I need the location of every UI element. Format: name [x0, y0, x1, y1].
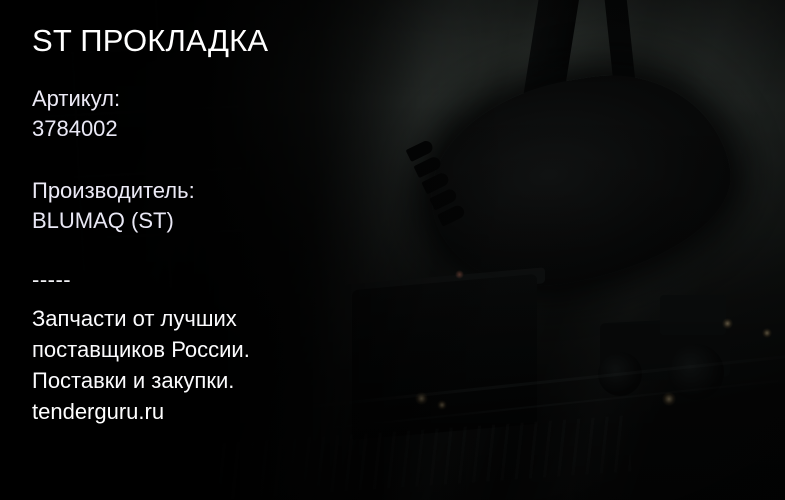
- product-title: ST ПРОКЛАДКА: [32, 23, 268, 59]
- text-divider: -----: [32, 268, 71, 292]
- tagline-block: Запчасти от лучших поставщиков России. П…: [32, 303, 250, 427]
- manufacturer-label: Производитель:: [32, 178, 195, 203]
- tagline-line-2: поставщиков России.: [32, 334, 250, 365]
- tagline-line-1: Запчасти от лучших: [32, 303, 250, 334]
- machine-lamp-glow: [722, 318, 733, 329]
- article-field: Артикул: 3784002: [32, 84, 120, 144]
- loader-cab: [660, 295, 726, 335]
- manufacturer-field: Производитель: BLUMAQ (ST): [32, 176, 195, 236]
- article-label: Артикул:: [32, 86, 120, 111]
- machine-lamp-glow: [762, 328, 772, 338]
- article-value: 3784002: [32, 114, 120, 144]
- manufacturer-value: BLUMAQ (ST): [32, 206, 195, 236]
- excavator-bucket: [416, 58, 744, 302]
- banner-content: ST ПРОКЛАДКА Артикул: 3784002 Производит…: [32, 0, 462, 500]
- product-banner: ST ПРОКЛАДКА Артикул: 3784002 Производит…: [0, 0, 785, 500]
- tagline-line-3: Поставки и закупки.: [32, 365, 250, 396]
- site-url: tenderguru.ru: [32, 396, 250, 427]
- machine-lamp-glow: [662, 392, 676, 406]
